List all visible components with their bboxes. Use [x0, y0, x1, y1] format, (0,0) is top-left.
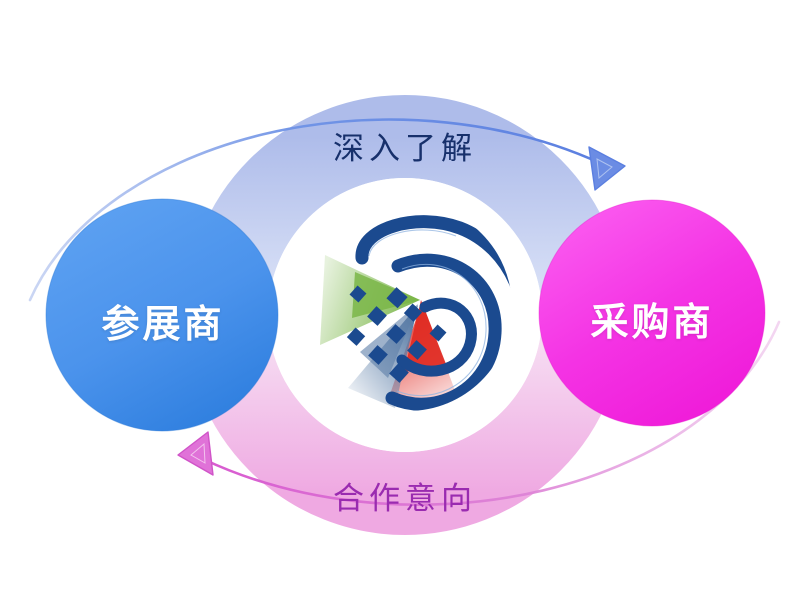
- bottom-flow-arrowhead: [178, 432, 213, 475]
- node-buyer[interactable]: [539, 200, 765, 426]
- top-flow-arrowhead: [589, 147, 625, 190]
- node-exhibitor[interactable]: [46, 199, 278, 431]
- diagram-canvas: 参展商 采购商 深入了解 合作意向: [0, 0, 800, 603]
- cycle-diagram: [0, 0, 800, 603]
